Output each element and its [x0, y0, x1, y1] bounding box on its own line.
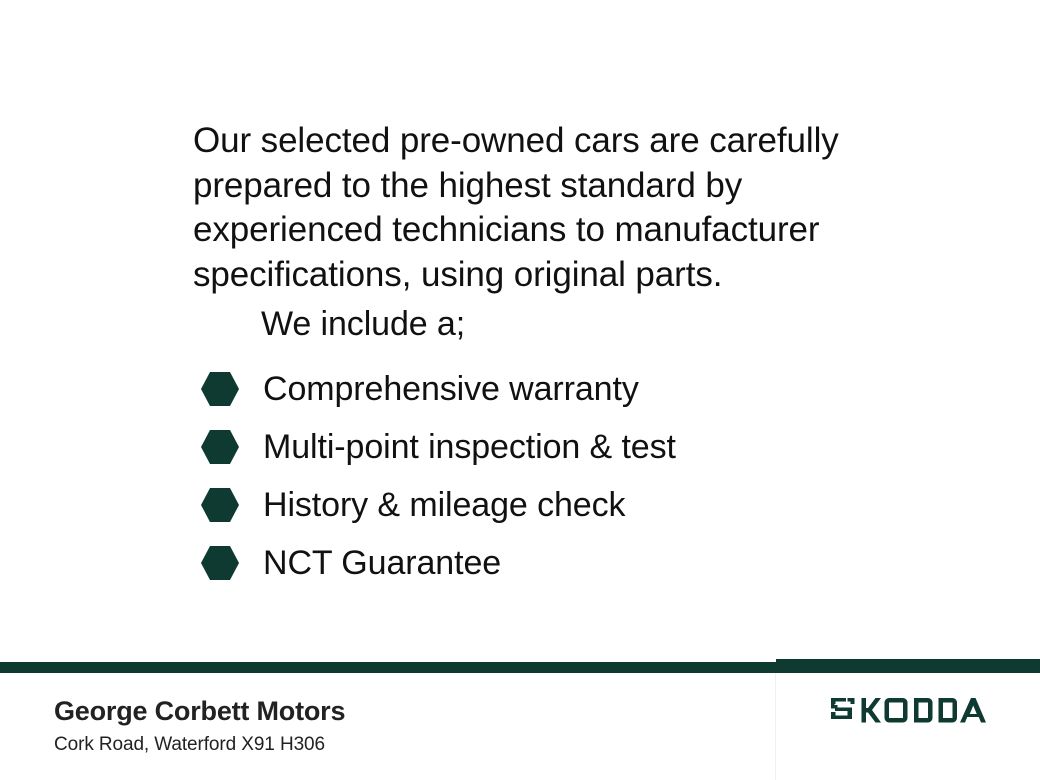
list-item: Multi-point inspection & test	[200, 418, 900, 476]
hexagon-bullet-icon	[200, 545, 240, 581]
list-item-label: Comprehensive warranty	[263, 369, 639, 409]
list-item: History & mileage check	[200, 476, 900, 534]
intro-paragraph: Our selected pre-owned cars are carefull…	[193, 119, 883, 297]
hexagon-bullet-icon	[200, 487, 240, 523]
footer-rule-right	[776, 659, 1040, 673]
inclusions-list: Comprehensive warranty Multi-point inspe…	[200, 360, 900, 592]
dealer-name: George Corbett Motors	[54, 694, 345, 728]
include-heading: We include a;	[261, 303, 465, 345]
dealer-address: Cork Road, Waterford X91 H306	[54, 732, 325, 757]
hexagon-bullet-icon	[200, 371, 240, 407]
footer-vertical-divider	[775, 673, 776, 780]
skoda-wordmark-logo	[830, 697, 988, 727]
list-item-label: NCT Guarantee	[263, 543, 501, 583]
list-item-label: History & mileage check	[263, 485, 625, 525]
promo-slide: Our selected pre-owned cars are carefull…	[0, 0, 1040, 780]
list-item: NCT Guarantee	[200, 534, 900, 592]
list-item-label: Multi-point inspection & test	[263, 427, 676, 467]
list-item: Comprehensive warranty	[200, 360, 900, 418]
hexagon-bullet-icon	[200, 429, 240, 465]
footer-rule-left	[0, 662, 776, 673]
